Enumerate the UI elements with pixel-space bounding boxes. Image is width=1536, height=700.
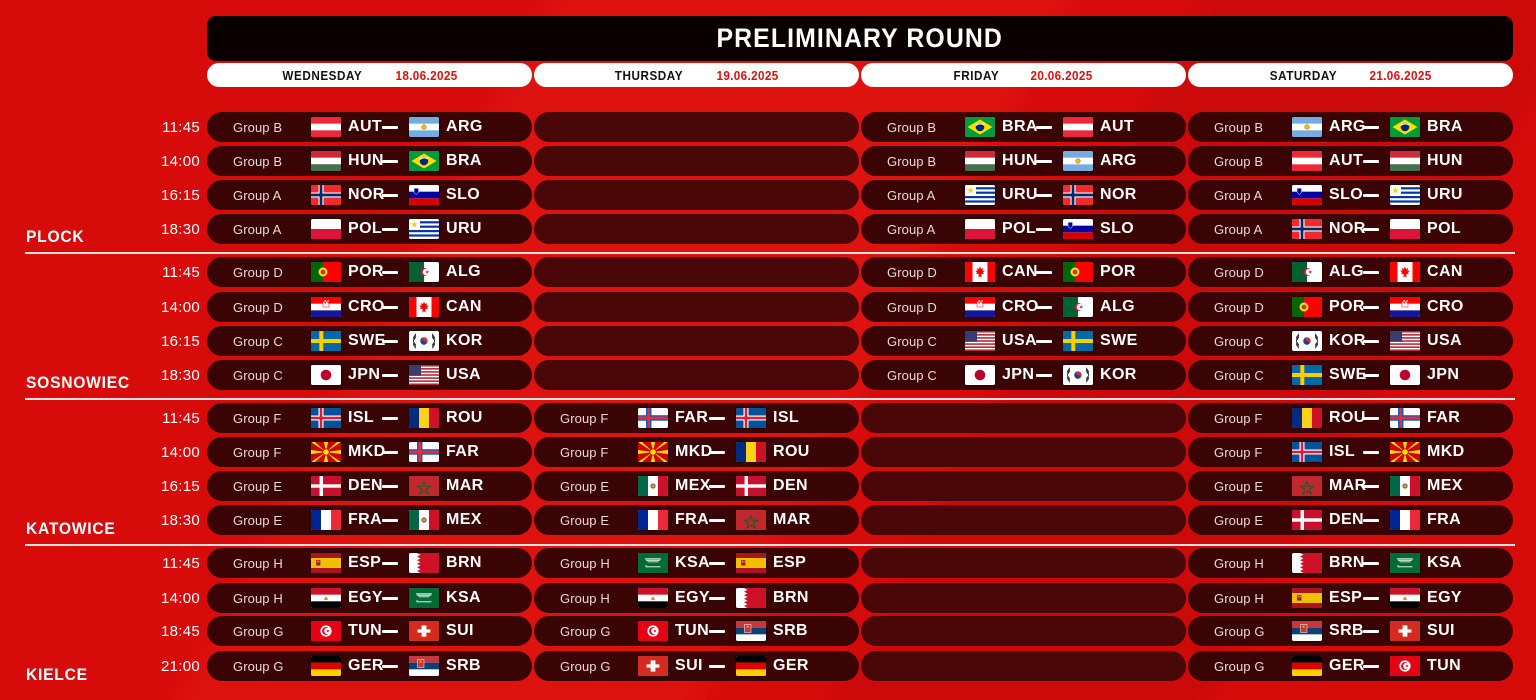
flag-icon-jpn <box>311 365 341 385</box>
match-card[interactable]: Group DALGCAN <box>1188 257 1513 287</box>
day-tab-thursday[interactable]: THURSDAY19.06.2025 <box>534 63 859 87</box>
flag-icon-pol <box>311 219 341 239</box>
away-team-code: MKD <box>1427 443 1465 461</box>
match-card[interactable]: Group FMKDROU <box>534 437 859 467</box>
match-card[interactable]: Group CJPNKOR <box>861 360 1186 390</box>
match-slot[interactable]: Group HKSAESP <box>534 548 859 578</box>
match-card[interactable]: Group GSUIGER <box>534 651 859 681</box>
match-slot[interactable]: Group FMKDFAR <box>207 437 532 467</box>
match-slot[interactable]: Group BHUNBRA <box>207 146 532 176</box>
home-team-code: MKD <box>675 443 713 461</box>
match-card[interactable]: Group HESPEGY <box>1188 583 1513 613</box>
flag-icon-swe <box>1063 331 1093 351</box>
schedule-row: 16:15Group ANORSLOGroup AURUNORGroup ASL… <box>0 180 1536 210</box>
match-card[interactable]: Group ANORSLO <box>207 180 532 210</box>
versus-dash-icon <box>1363 562 1379 565</box>
flag-icon-aut <box>1063 117 1093 137</box>
flag-icon-ksa <box>409 588 439 608</box>
away-team-code: CAN <box>1427 263 1463 281</box>
home-team-code: FRA <box>348 511 382 529</box>
match-slot[interactable]: Group HEGYKSA <box>207 583 532 613</box>
match-slot <box>534 326 859 356</box>
match-card[interactable]: Group BARGBRA <box>1188 112 1513 142</box>
home-team-code: TUN <box>675 622 709 640</box>
flag-icon-uru <box>1390 185 1420 205</box>
match-card[interactable]: Group AURUNOR <box>861 180 1186 210</box>
away-team: KOR <box>1063 365 1137 385</box>
away-team-code: SUI <box>446 622 474 640</box>
match-slot[interactable]: Group DPORALG <box>207 257 532 287</box>
home-team: ESP <box>1292 588 1362 608</box>
group-label: Group G <box>560 659 611 674</box>
away-team: BRN <box>736 588 809 608</box>
schedule-row: 16:15Group CSWEKORGroup CUSASWEGroup CKO… <box>0 326 1536 356</box>
match-card[interactable]: Group EMARMEX <box>1188 471 1513 501</box>
match-slot <box>861 616 1186 646</box>
group-label: Group B <box>887 154 936 169</box>
match-slot[interactable]: Group DPORCRO <box>1188 292 1513 322</box>
home-team: KOR <box>1292 331 1366 351</box>
match-slot[interactable]: Group BHUNARG <box>861 146 1186 176</box>
match-slot[interactable]: Group FMKDROU <box>534 437 859 467</box>
flag-icon-egy <box>311 588 341 608</box>
away-team-code: SLO <box>1100 220 1134 238</box>
flag-icon-egy <box>1390 588 1420 608</box>
match-card[interactable]: Group EFRAMAR <box>534 505 859 535</box>
versus-dash-icon <box>709 597 725 600</box>
away-team-code: ARG <box>446 118 483 136</box>
versus-dash-icon <box>382 665 398 668</box>
away-team-code: FAR <box>446 443 479 461</box>
away-team: KSA <box>1390 553 1462 573</box>
away-team-code: ARG <box>1100 152 1137 170</box>
venue-separator <box>25 252 1515 254</box>
flag-icon-isl <box>736 408 766 428</box>
match-card[interactable]: Group CUSASWE <box>861 326 1186 356</box>
home-team-code: NOR <box>1329 220 1366 238</box>
away-team: AUT <box>1063 117 1134 137</box>
away-team: SUI <box>1390 621 1455 641</box>
empty-match-placeholder <box>861 651 1186 681</box>
match-card[interactable]: Group HBRNKSA <box>1188 548 1513 578</box>
match-slot[interactable]: Group GSRBSUI <box>1188 616 1513 646</box>
flag-icon-far <box>638 408 668 428</box>
match-card[interactable]: Group EDENMAR <box>207 471 532 501</box>
match-slot[interactable]: Group BAUTHUN <box>1188 146 1513 176</box>
group-label: Group D <box>233 265 283 280</box>
group-label: Group H <box>560 556 610 571</box>
match-slot[interactable]: Group GTUNSUI <box>207 616 532 646</box>
match-card[interactable]: Group EDENFRA <box>1188 505 1513 535</box>
away-team-code: ROU <box>446 409 483 427</box>
match-slot <box>861 437 1186 467</box>
match-slot[interactable]: Group DALGCAN <box>1188 257 1513 287</box>
versus-dash-icon <box>1363 126 1379 129</box>
away-team-code: NOR <box>1100 186 1137 204</box>
match-card[interactable]: Group HEGYBRN <box>534 583 859 613</box>
away-team: KOR <box>409 331 483 351</box>
home-team-code: FAR <box>675 409 708 427</box>
match-card[interactable]: Group DCROALG <box>861 292 1186 322</box>
group-label: Group A <box>887 188 935 203</box>
match-card[interactable]: Group GTUNSUI <box>207 616 532 646</box>
home-team: URU <box>965 185 1038 205</box>
home-team: HUN <box>965 151 1038 171</box>
away-team-code: FAR <box>1427 409 1460 427</box>
match-card[interactable]: Group GGERTUN <box>1188 651 1513 681</box>
match-card[interactable]: Group DCANPOR <box>861 257 1186 287</box>
home-team-code: ALG <box>1329 263 1364 281</box>
day-tab-wednesday[interactable]: WEDNESDAY18.06.2025 <box>207 63 532 87</box>
venue-label-plock: PLOCK <box>26 227 84 247</box>
match-slot[interactable]: Group EFRAMEX <box>207 505 532 535</box>
match-slot[interactable]: Group BARGBRA <box>1188 112 1513 142</box>
group-label: Group E <box>233 513 282 528</box>
match-slot[interactable]: Group EMEXDEN <box>534 471 859 501</box>
away-team: USA <box>1390 331 1462 351</box>
home-team: TUN <box>311 621 382 641</box>
match-slot[interactable]: Group CJPNUSA <box>207 360 532 390</box>
flag-icon-srb <box>1292 621 1322 641</box>
home-team-code: CAN <box>1002 263 1038 281</box>
away-team-code: POR <box>1100 263 1136 281</box>
match-card[interactable]: Group CJPNUSA <box>207 360 532 390</box>
match-slot <box>534 146 859 176</box>
match-slot[interactable]: Group CKORUSA <box>1188 326 1513 356</box>
empty-match-placeholder <box>534 326 859 356</box>
away-team-code: HUN <box>1427 152 1463 170</box>
group-label: Group D <box>1214 265 1264 280</box>
match-card[interactable]: Group CKORUSA <box>1188 326 1513 356</box>
versus-dash-icon <box>1363 228 1379 231</box>
group-label: Group G <box>560 624 611 639</box>
match-card[interactable]: Group ANORPOL <box>1188 214 1513 244</box>
flag-icon-sui <box>1390 621 1420 641</box>
match-slot[interactable]: Group AURUNOR <box>861 180 1186 210</box>
match-slot[interactable]: Group EMARMEX <box>1188 471 1513 501</box>
match-card[interactable]: Group ASLOURU <box>1188 180 1513 210</box>
home-team-code: ROU <box>1329 409 1366 427</box>
match-slot <box>861 403 1186 433</box>
away-team-code: KOR <box>446 332 483 350</box>
away-team-code: TUN <box>1427 657 1461 675</box>
match-time: 18:30 <box>140 214 200 244</box>
home-team: EGY <box>638 588 710 608</box>
flag-icon-hun <box>1390 151 1420 171</box>
match-card[interactable]: Group BAUTHUN <box>1188 146 1513 176</box>
home-team-code: SLO <box>1329 186 1363 204</box>
flag-icon-can <box>409 297 439 317</box>
flag-icon-isl <box>1292 442 1322 462</box>
match-slot[interactable]: Group APOLSLO <box>861 214 1186 244</box>
flag-icon-fra <box>1390 510 1420 530</box>
versus-dash-icon <box>709 451 725 454</box>
away-team: ALG <box>1063 297 1135 317</box>
versus-dash-icon <box>1363 485 1379 488</box>
match-card[interactable]: Group FISLMKD <box>1188 437 1513 467</box>
away-team: SRB <box>409 656 481 676</box>
away-team-code: BRA <box>1427 118 1463 136</box>
flag-icon-usa <box>1390 331 1420 351</box>
home-team-code: EGY <box>675 589 710 607</box>
away-team: ISL <box>736 408 799 428</box>
flag-icon-mar <box>736 510 766 530</box>
match-card[interactable]: Group FMKDFAR <box>207 437 532 467</box>
flag-icon-can <box>1390 262 1420 282</box>
match-slot[interactable]: Group CJPNKOR <box>861 360 1186 390</box>
away-team: JPN <box>1390 365 1459 385</box>
match-slot <box>534 360 859 390</box>
flag-icon-mex <box>1390 476 1420 496</box>
versus-dash-icon <box>382 519 398 522</box>
empty-match-placeholder <box>861 437 1186 467</box>
match-slot[interactable]: Group ANORSLO <box>207 180 532 210</box>
match-slot[interactable]: Group GSUIGER <box>534 651 859 681</box>
day-name: THURSDAY <box>615 68 683 83</box>
away-team-code: SRB <box>446 657 481 675</box>
match-slot[interactable]: Group GTUNSRB <box>534 616 859 646</box>
match-time: 21:00 <box>140 651 200 681</box>
match-slot[interactable]: Group DCANPOR <box>861 257 1186 287</box>
group-label: Group F <box>560 411 608 426</box>
match-slot[interactable]: Group GGERSRB <box>207 651 532 681</box>
empty-match-placeholder <box>861 471 1186 501</box>
flag-icon-bra <box>1390 117 1420 137</box>
flag-icon-can <box>965 262 995 282</box>
match-time: 14:00 <box>140 583 200 613</box>
home-team-code: BRA <box>1002 118 1038 136</box>
versus-dash-icon <box>382 562 398 565</box>
day-tab-saturday[interactable]: SATURDAY21.06.2025 <box>1188 63 1513 87</box>
match-card[interactable]: Group FISLROU <box>207 403 532 433</box>
empty-match-placeholder <box>861 548 1186 578</box>
match-card[interactable]: Group HESPBRN <box>207 548 532 578</box>
away-team: NOR <box>1063 185 1137 205</box>
home-team-code: BRN <box>1329 554 1365 572</box>
versus-dash-icon <box>1363 665 1379 668</box>
empty-match-placeholder <box>534 257 859 287</box>
match-card[interactable]: Group HKSAESP <box>534 548 859 578</box>
match-card[interactable]: Group FROUFAR <box>1188 403 1513 433</box>
match-slot[interactable]: Group FISLROU <box>207 403 532 433</box>
group-label: Group B <box>1214 120 1263 135</box>
group-label: Group G <box>233 659 284 674</box>
match-card[interactable]: Group DCROCAN <box>207 292 532 322</box>
away-team: DEN <box>736 476 808 496</box>
schedule-row: 21:00Group GGERSRBGroup GSUIGERGroup GGE… <box>0 651 1536 681</box>
versus-dash-icon <box>1363 340 1379 343</box>
match-card[interactable]: Group DPORALG <box>207 257 532 287</box>
match-slot <box>861 505 1186 535</box>
match-card[interactable]: Group EFRAMEX <box>207 505 532 535</box>
day-tab-friday[interactable]: FRIDAY20.06.2025 <box>861 63 1186 87</box>
away-team: FRA <box>1390 510 1461 530</box>
match-card[interactable]: Group APOLURU <box>207 214 532 244</box>
flag-icon-den <box>736 476 766 496</box>
group-label: Group A <box>1214 188 1262 203</box>
flag-icon-alg <box>1063 297 1093 317</box>
home-team: MAR <box>1292 476 1367 496</box>
empty-match-placeholder <box>861 505 1186 535</box>
match-slot[interactable]: Group EDENMAR <box>207 471 532 501</box>
flag-icon-isl <box>311 408 341 428</box>
group-label: Group E <box>1214 479 1263 494</box>
group-label: Group B <box>887 120 936 135</box>
flag-icon-tun <box>1390 656 1420 676</box>
home-team-code: KOR <box>1329 332 1366 350</box>
match-slot[interactable]: Group EDENFRA <box>1188 505 1513 535</box>
away-team-code: ISL <box>773 409 799 427</box>
match-time: 16:15 <box>140 326 200 356</box>
match-card[interactable]: Group BHUNARG <box>861 146 1186 176</box>
match-card[interactable]: Group CSWEKOR <box>207 326 532 356</box>
home-team: SWE <box>311 331 386 351</box>
home-team: KSA <box>638 553 710 573</box>
empty-match-placeholder <box>534 214 859 244</box>
match-card[interactable]: Group CSWEJPN <box>1188 360 1513 390</box>
match-card[interactable]: Group APOLSLO <box>861 214 1186 244</box>
versus-dash-icon <box>709 562 725 565</box>
versus-dash-icon <box>709 417 725 420</box>
away-team-code: AUT <box>1100 118 1134 136</box>
match-slot[interactable]: Group HBRNKSA <box>1188 548 1513 578</box>
group-label: Group H <box>560 591 610 606</box>
flag-icon-den <box>311 476 341 496</box>
schedule-row: 18:30Group CJPNUSAGroup CJPNKORGroup CSW… <box>0 360 1536 390</box>
schedule-row: 11:45Group BAUTARGGroup BBRAAUTGroup BAR… <box>0 112 1536 142</box>
away-team: MEX <box>1390 476 1463 496</box>
match-slot[interactable]: Group CUSASWE <box>861 326 1186 356</box>
match-slot[interactable]: Group HESPBRN <box>207 548 532 578</box>
away-team: BRN <box>409 553 482 573</box>
match-card[interactable]: Group GSRBSUI <box>1188 616 1513 646</box>
match-slot[interactable]: Group DCROCAN <box>207 292 532 322</box>
group-label: Group C <box>233 368 283 383</box>
home-team-code: CRO <box>348 298 385 316</box>
match-slot[interactable]: Group FROUFAR <box>1188 403 1513 433</box>
versus-dash-icon <box>1036 194 1052 197</box>
venue-separator <box>25 544 1515 546</box>
away-team-code: KSA <box>446 589 481 607</box>
flag-icon-swe <box>311 331 341 351</box>
flag-icon-por <box>311 262 341 282</box>
versus-dash-icon <box>382 374 398 377</box>
match-slot[interactable]: Group GGERTUN <box>1188 651 1513 681</box>
match-slot[interactable]: Group FISLMKD <box>1188 437 1513 467</box>
home-team-code: AUT <box>1329 152 1363 170</box>
away-team-code: SUI <box>1427 622 1455 640</box>
group-label: Group A <box>233 222 281 237</box>
away-team: ROU <box>736 442 810 462</box>
match-slot[interactable]: Group ANORPOL <box>1188 214 1513 244</box>
group-label: Group C <box>1214 368 1264 383</box>
match-slot[interactable]: Group BBRAAUT <box>861 112 1186 142</box>
flag-icon-slo <box>1292 185 1322 205</box>
versus-dash-icon <box>382 597 398 600</box>
match-card[interactable]: Group DPORCRO <box>1188 292 1513 322</box>
away-team-code: MAR <box>446 477 484 495</box>
flag-icon-nor <box>1063 185 1093 205</box>
match-slot[interactable]: Group HESPEGY <box>1188 583 1513 613</box>
versus-dash-icon <box>382 340 398 343</box>
schedule-row: 14:00Group BHUNBRAGroup BHUNARGGroup BAU… <box>0 146 1536 176</box>
versus-dash-icon <box>709 665 725 668</box>
versus-dash-icon <box>1363 417 1379 420</box>
day-name: WEDNESDAY <box>282 68 362 83</box>
away-team-code: BRN <box>773 589 809 607</box>
match-slot[interactable]: Group ASLOURU <box>1188 180 1513 210</box>
group-label: Group H <box>233 556 283 571</box>
home-team: NOR <box>311 185 385 205</box>
group-label: Group B <box>1214 154 1263 169</box>
match-card[interactable]: Group BBRAAUT <box>861 112 1186 142</box>
flag-icon-srb <box>736 621 766 641</box>
match-slot[interactable]: Group DCROALG <box>861 292 1186 322</box>
home-team: DEN <box>311 476 383 496</box>
venue-label-katowice: KATOWICE <box>26 519 116 539</box>
group-label: Group H <box>1214 591 1264 606</box>
home-team-code: GER <box>1329 657 1365 675</box>
match-slot[interactable]: Group CSWEKOR <box>207 326 532 356</box>
match-card[interactable]: Group GTUNSRB <box>534 616 859 646</box>
flag-icon-kor <box>409 331 439 351</box>
home-team: ROU <box>1292 408 1366 428</box>
away-team-code: URU <box>446 220 482 238</box>
away-team: ALG <box>409 262 481 282</box>
flag-icon-fra <box>638 510 668 530</box>
group-label: Group D <box>1214 300 1264 315</box>
match-slot[interactable]: Group BAUTARG <box>207 112 532 142</box>
match-time: 18:30 <box>140 505 200 535</box>
versus-dash-icon <box>1036 271 1052 274</box>
empty-match-placeholder <box>534 180 859 210</box>
versus-dash-icon <box>709 485 725 488</box>
match-slot[interactable]: Group EFRAMAR <box>534 505 859 535</box>
flag-icon-nor <box>1292 219 1322 239</box>
match-slot <box>861 651 1186 681</box>
flag-icon-brn <box>409 553 439 573</box>
group-label: Group E <box>560 513 609 528</box>
match-card[interactable]: Group BAUTARG <box>207 112 532 142</box>
home-team: POL <box>965 219 1036 239</box>
match-card[interactable]: Group HEGYKSA <box>207 583 532 613</box>
match-slot[interactable]: Group APOLURU <box>207 214 532 244</box>
schedule-row: 14:00Group HEGYKSAGroup HEGYBRNGroup HES… <box>0 583 1536 613</box>
match-time: 16:15 <box>140 180 200 210</box>
away-team: KSA <box>409 588 481 608</box>
away-team: CRO <box>1390 297 1464 317</box>
away-team: BRA <box>1390 117 1463 137</box>
match-card[interactable]: Group FFARISL <box>534 403 859 433</box>
home-team-code: JPN <box>1002 366 1034 384</box>
match-card[interactable]: Group GGERSRB <box>207 651 532 681</box>
flag-icon-mar <box>409 476 439 496</box>
schedule-row: 18:45Group GTUNSUIGroup GTUNSRBGroup GSR… <box>0 616 1536 646</box>
home-team-code: TUN <box>348 622 382 640</box>
match-card[interactable]: Group EMEXDEN <box>534 471 859 501</box>
home-team: CRO <box>965 297 1039 317</box>
match-slot[interactable]: Group FFARISL <box>534 403 859 433</box>
day-date: 18.06.2025 <box>396 68 458 83</box>
versus-dash-icon <box>382 194 398 197</box>
flag-icon-rou <box>409 408 439 428</box>
title-bar: PRELIMINARY ROUND <box>207 16 1513 61</box>
match-card[interactable]: Group BHUNBRA <box>207 146 532 176</box>
schedule-row: 11:45Group HESPBRNGroup HKSAESPGroup HBR… <box>0 548 1536 578</box>
match-slot[interactable]: Group HEGYBRN <box>534 583 859 613</box>
schedule-row: 11:45Group FISLROUGroup FFARISLGroup FRO… <box>0 403 1536 433</box>
match-slot[interactable]: Group CSWEJPN <box>1188 360 1513 390</box>
